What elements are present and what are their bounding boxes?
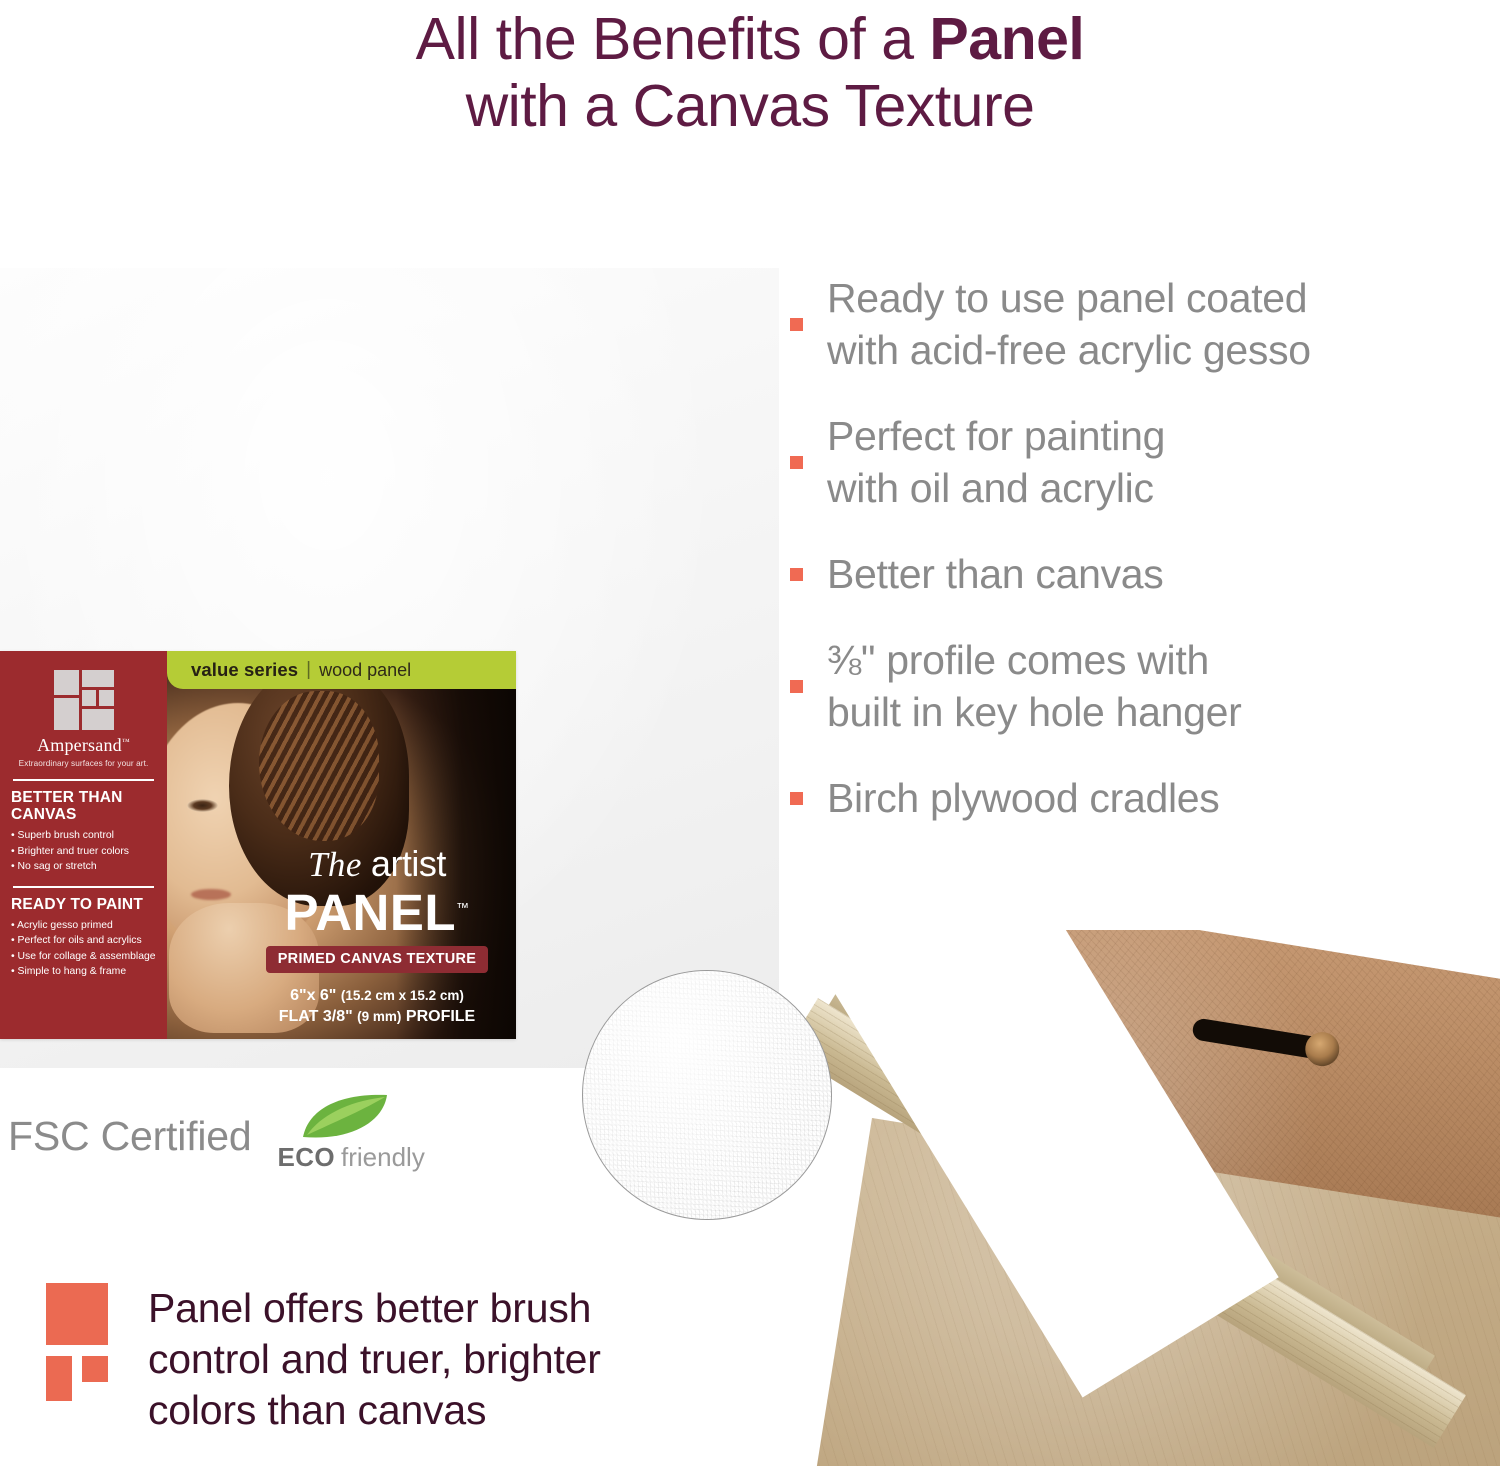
brand-name: Ampersand™: [11, 735, 156, 756]
product-title-block: The artist PANEL™ PRIMED CANVAS TEXTURE …: [252, 846, 502, 1027]
title-line-1-regular: All the Benefits of a: [416, 6, 930, 72]
list-item: Superb brush control: [11, 828, 156, 844]
benefit-text: Better than canvas: [827, 548, 1163, 600]
dimensions-profile: FLAT 3/8" (9 mm) PROFILE: [252, 1006, 502, 1027]
title-line-1: All the Benefits of a Panel: [0, 6, 1500, 73]
leaf-icon: [299, 1093, 391, 1141]
caption-text: Panel offers better brush control and tr…: [148, 1283, 601, 1436]
product-title-the-artist: The artist: [252, 846, 502, 883]
list-item: Perfect for painting with oil and acryli…: [790, 410, 1490, 514]
bullet-square-icon: [790, 792, 803, 805]
panel-trademark-icon: ™: [456, 900, 470, 915]
benefits-list: Ready to use panel coated with acid-free…: [790, 272, 1490, 858]
bottom-caption: Panel offers better brush control and tr…: [46, 1283, 601, 1436]
title-line-2: with a Canvas Texture: [0, 73, 1500, 140]
page-title: All the Benefits of a Panel with a Canva…: [0, 6, 1500, 140]
list-item: Birch plywood cradles: [790, 772, 1490, 824]
label-section2-heading: READY TO PAINT: [11, 896, 156, 913]
label-section1-bullets: Superb brush control Brighter and truer …: [11, 828, 156, 875]
bullet-square-icon: [790, 318, 803, 331]
fsc-certified-label: FSC Certified: [8, 1113, 251, 1160]
decorative-squares-icon: [46, 1283, 124, 1401]
friendly-word: friendly: [341, 1142, 425, 1172]
primed-canvas-texture-badge: PRIMED CANVAS TEXTURE: [266, 946, 489, 973]
wood-panel-label: wood panel: [319, 660, 411, 681]
divider-bottom: [13, 886, 154, 888]
dimensions-size: 6"x 6" (15.2 cm x 15.2 cm): [252, 985, 502, 1006]
bullet-square-icon: [790, 568, 803, 581]
product-title-panel: PANEL™: [284, 883, 469, 938]
list-item: Simple to hang & frame: [11, 964, 156, 980]
benefit-text: Perfect for painting with oil and acryli…: [827, 410, 1165, 514]
label-section2-bullets: Acrylic gesso primed Perfect for oils an…: [11, 918, 156, 980]
ampersand-logo-icon: [54, 670, 114, 730]
product-dimensions: 6"x 6" (15.2 cm x 15.2 cm) FLAT 3/8" (9 …: [252, 985, 502, 1027]
eco-friendly-badge: ECOfriendly: [277, 1097, 405, 1175]
benefit-text: Birch plywood cradles: [827, 772, 1220, 824]
brand-tagline: Extraordinary surfaces for your art.: [11, 759, 156, 768]
bullet-square-icon: [790, 680, 803, 693]
list-item: Acrylic gesso primed: [11, 918, 156, 934]
label-section1-heading-line2: CANVAS: [11, 806, 156, 823]
title-line-1-bold: Panel: [929, 6, 1084, 72]
list-item: ⅜" profile comes with built in key hole …: [790, 634, 1490, 738]
eco-word: ECO: [277, 1142, 335, 1172]
panel-back-cradle-photo: [800, 930, 1500, 1466]
certification-row: FSC Certified ECOfriendly: [8, 1097, 405, 1175]
divider-top: [13, 779, 154, 781]
list-item: Brighter and truer colors: [11, 844, 156, 860]
list-item: Use for collage & assemblage: [11, 949, 156, 965]
eco-friendly-text: ECOfriendly: [277, 1142, 424, 1173]
package-label: Ampersand™ Extraordinary surfaces for yo…: [0, 651, 516, 1039]
list-item: Better than canvas: [790, 548, 1490, 600]
label-artwork-raphael-portrait: value series | wood panel The artist PAN…: [167, 651, 516, 1039]
benefit-text: ⅜" profile comes with built in key hole …: [827, 634, 1241, 738]
green-bar-divider-icon: |: [306, 659, 311, 681]
list-item: Perfect for oils and acrylics: [11, 933, 156, 949]
list-item: Ready to use panel coated with acid-free…: [790, 272, 1490, 376]
label-red-strip: Ampersand™ Extraordinary surfaces for yo…: [0, 651, 167, 1039]
canvas-texture-swatch: [582, 970, 832, 1220]
list-item: No sag or stretch: [11, 859, 156, 875]
label-section1-heading: BETTER THAN CANVAS: [11, 789, 156, 823]
bullet-square-icon: [790, 456, 803, 469]
benefit-text: Ready to use panel coated with acid-free…: [827, 272, 1311, 376]
label-section1-heading-line1: BETTER THAN: [11, 789, 156, 806]
brand-trademark-icon: ™: [122, 737, 130, 746]
value-series-label: value series: [191, 659, 298, 681]
value-series-bar: value series | wood panel: [167, 651, 516, 689]
